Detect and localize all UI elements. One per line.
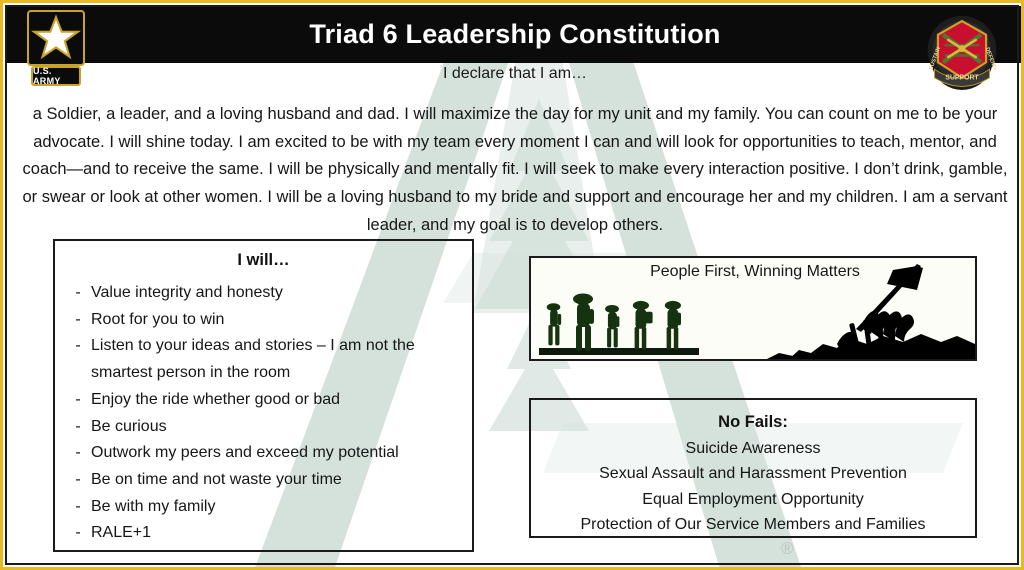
- list-item: - Be on time and not waste your time: [65, 467, 472, 494]
- us-army-wordmark: U.S. ARMY: [31, 66, 81, 86]
- list-item-label: Listen to your ideas and stories – I am …: [91, 333, 472, 386]
- bullet-dash: -: [65, 280, 91, 307]
- list-item-label: Enjoy the ride whether good or bad: [91, 387, 472, 414]
- people-first-panel: People First, Winning Matters: [529, 256, 977, 361]
- army-star-icon: [27, 10, 85, 66]
- imcom-insignia: SUPPORT SUSTAIN DEFEND: [919, 9, 1005, 95]
- list-item: - RALE+1: [65, 520, 472, 547]
- bullet-dash: -: [65, 387, 91, 414]
- bullet-dash: -: [65, 494, 91, 521]
- bullet-dash: -: [65, 333, 91, 360]
- declare-line: I declare that I am…: [3, 65, 1024, 83]
- i-will-title: I will…: [55, 251, 472, 270]
- list-item: - Enjoy the ride whether good or bad: [65, 387, 472, 414]
- list-item-label: Root for you to win: [91, 307, 472, 334]
- no-fails-panel: No Fails: Suicide Awareness Sexual Assau…: [529, 398, 977, 538]
- list-item-label: Be with my family: [91, 494, 472, 521]
- no-fails-item: Protection of Our Service Members and Fa…: [531, 512, 975, 538]
- bullet-dash: -: [65, 467, 91, 494]
- us-army-star-logo: U.S. ARMY: [27, 10, 85, 88]
- no-fails-item: Sexual Assault and Harassment Prevention: [531, 461, 975, 487]
- no-fails-item: Suicide Awareness: [531, 436, 975, 462]
- header-band: Triad 6 Leadership Constitution: [6, 6, 1024, 63]
- bullet-dash: -: [65, 307, 91, 334]
- bullet-dash: -: [65, 414, 91, 441]
- list-item: - Listen to your ideas and stories – I a…: [65, 333, 472, 386]
- creed-paragraph: a Soldier, a leader, and a loving husban…: [13, 101, 1017, 240]
- i-will-panel: I will… - Value integrity and honesty - …: [53, 239, 474, 552]
- bullet-dash: -: [65, 520, 91, 547]
- list-item: - Outwork my peers and exceed my potenti…: [65, 440, 472, 467]
- svg-text:SUPPORT: SUPPORT: [945, 75, 979, 82]
- bullet-dash: -: [65, 440, 91, 467]
- list-item: - Be with my family: [65, 494, 472, 521]
- list-item-label: Be on time and not waste your time: [91, 467, 472, 494]
- registered-trademark-symbol: ®: [781, 539, 794, 559]
- list-item-label: Value integrity and honesty: [91, 280, 472, 307]
- list-item-label: Outwork my peers and exceed my potential: [91, 440, 472, 467]
- people-first-caption: People First, Winning Matters: [531, 263, 977, 281]
- list-item-label: RALE+1: [91, 520, 472, 547]
- no-fails-item: Equal Employment Opportunity: [531, 487, 975, 513]
- slide-canvas: Triad 6 Leadership Constitution U.S. ARM…: [0, 0, 1024, 570]
- list-item: - Root for you to win: [65, 307, 472, 334]
- list-item-label: Be curious: [91, 414, 472, 441]
- i-will-list: - Value integrity and honesty - Root for…: [55, 280, 472, 547]
- no-fails-title: No Fails:: [531, 410, 975, 436]
- list-item: - Be curious: [65, 414, 472, 441]
- list-item: - Value integrity and honesty: [65, 280, 472, 307]
- page-title: Triad 6 Leadership Constitution: [309, 19, 720, 50]
